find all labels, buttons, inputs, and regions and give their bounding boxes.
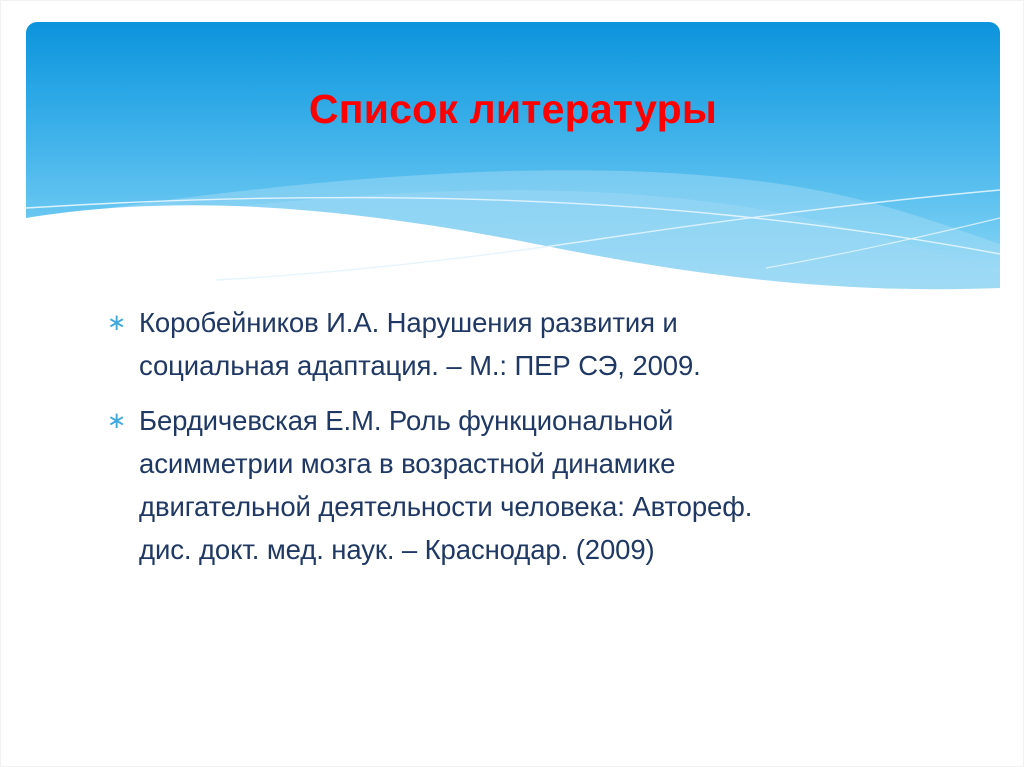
header-banner-graphic xyxy=(26,22,1000,292)
asterisk-bullet-icon: ∗ xyxy=(107,399,129,442)
list-item: ∗ Бердичевская Е.М. Роль функциональной … xyxy=(105,399,905,571)
reference-text: Бердичевская Е.М. Роль функциональной ас… xyxy=(139,399,799,571)
reference-text: Коробейников И.А. Нарушения развития и с… xyxy=(139,301,799,387)
banner-wave-svg xyxy=(26,22,1000,292)
presentation-slide: Список литературы ∗ Коробейников И.А. На… xyxy=(0,0,1024,767)
reference-list: ∗ Коробейников И.А. Нарушения развития и… xyxy=(105,301,905,571)
asterisk-bullet-icon: ∗ xyxy=(107,301,129,344)
slide-title: Список литературы xyxy=(1,87,1024,132)
list-item: ∗ Коробейников И.А. Нарушения развития и… xyxy=(105,301,905,387)
